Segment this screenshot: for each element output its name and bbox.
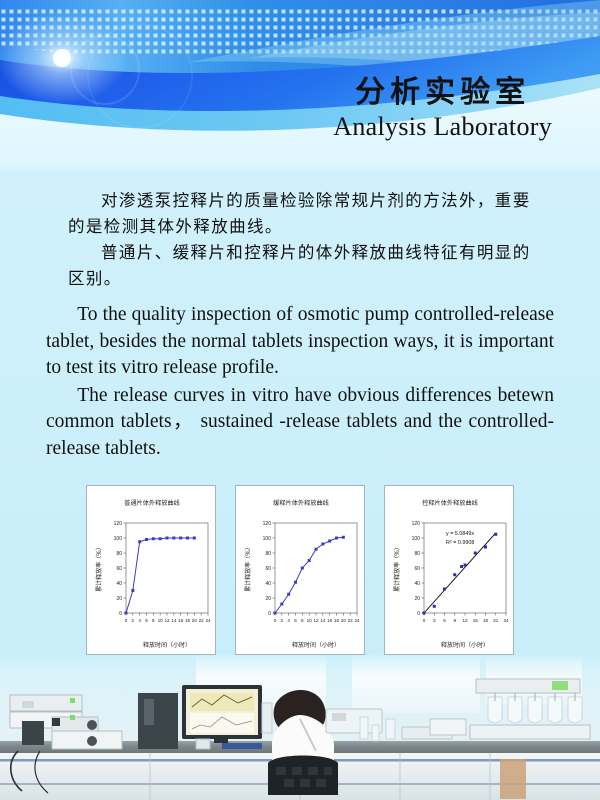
english-body-text: To the quality inspection of osmotic pum… xyxy=(46,302,554,462)
y-tick-label: 40 xyxy=(265,581,271,587)
data-point xyxy=(125,612,128,615)
x-tick-label: 6 xyxy=(145,618,148,623)
x-tick-label: 10 xyxy=(158,618,164,623)
page-title-english: Analysis Laboratory xyxy=(333,114,552,140)
data-point xyxy=(166,537,169,540)
y-tick-label: 0 xyxy=(119,611,122,617)
data-point xyxy=(186,537,189,540)
data-point xyxy=(159,537,162,540)
y-tick-label: 40 xyxy=(116,581,122,587)
x-axis-label: 释放时间（小时） xyxy=(292,641,340,649)
x-tick-label: 18 xyxy=(185,618,191,623)
data-point xyxy=(474,552,477,555)
data-point xyxy=(315,548,318,551)
data-point xyxy=(301,567,304,570)
data-point xyxy=(274,612,277,615)
chart-card-common-tablet: 普通片体外释放曲线0204060801001200246810121416182… xyxy=(86,485,216,655)
y-tick-label: 60 xyxy=(414,566,420,572)
x-tick-label: 20 xyxy=(192,618,198,623)
x-axis-label: 释放时间（小时） xyxy=(143,641,191,649)
y-tick-label: 0 xyxy=(417,611,420,617)
laboratory-photograph xyxy=(0,655,600,800)
chart-card-controlled-release: 控释片体外释放曲线02040608010012003691215182124释放… xyxy=(384,485,514,655)
y-tick-label: 100 xyxy=(263,536,272,542)
x-tick-label: 8 xyxy=(152,618,155,623)
data-point xyxy=(335,537,338,540)
data-point xyxy=(145,538,148,541)
data-point xyxy=(138,540,141,543)
x-tick-label: 8 xyxy=(301,618,304,623)
x-tick-label: 0 xyxy=(274,618,277,623)
x-tick-label: 6 xyxy=(294,618,297,623)
equation-annotation: y = 5.0849x xyxy=(446,531,474,537)
x-tick-label: 24 xyxy=(503,618,509,623)
data-point xyxy=(328,540,331,543)
x-tick-label: 24 xyxy=(205,618,211,623)
data-point xyxy=(308,559,311,562)
chart-title: 普通片体外释放曲线 xyxy=(124,499,180,507)
x-tick-label: 12 xyxy=(164,618,170,623)
data-point xyxy=(294,581,297,584)
chart-title: 控释片体外释放曲线 xyxy=(422,499,478,507)
data-point xyxy=(131,589,134,592)
y-axis-label: 累计释放率（%） xyxy=(393,544,401,592)
x-tick-label: 2 xyxy=(132,618,135,623)
x-tick-label: 15 xyxy=(473,618,479,623)
x-tick-label: 21 xyxy=(493,618,499,623)
data-point xyxy=(152,537,155,540)
x-axis-label: 释放时间（小时） xyxy=(441,641,489,649)
x-tick-label: 18 xyxy=(483,618,489,623)
y-tick-label: 120 xyxy=(114,521,123,527)
data-point xyxy=(172,537,175,540)
data-point xyxy=(460,565,463,568)
x-tick-label: 4 xyxy=(287,618,290,623)
charts-row: 普通片体外释放曲线0204060801001200246810121416182… xyxy=(0,485,600,657)
y-tick-label: 40 xyxy=(414,581,420,587)
data-point xyxy=(433,605,436,608)
data-point xyxy=(193,537,196,540)
chinese-body-text: 对渗透泵控释片的质量检验除常规片剂的方法外，重要的是检测其体外释放曲线。 普通片… xyxy=(68,188,534,292)
slide-root: 分析实验室 Analysis Laboratory 对渗透泵控释片的质量检验除常… xyxy=(0,0,600,800)
y-tick-label: 20 xyxy=(265,596,271,602)
x-tick-label: 3 xyxy=(433,618,436,623)
y-tick-label: 0 xyxy=(268,611,271,617)
x-tick-label: 12 xyxy=(462,618,468,623)
x-tick-label: 0 xyxy=(125,618,128,623)
x-tick-label: 2 xyxy=(281,618,284,623)
x-tick-label: 16 xyxy=(178,618,184,623)
x-tick-label: 14 xyxy=(171,618,177,623)
chart-svg: 缓释片体外释放曲线0204060801001200246810121416182… xyxy=(239,489,363,653)
chinese-paragraph-2: 普通片、缓释片和控释片的体外释放曲线特征有明显的区别。 xyxy=(68,240,534,292)
y-tick-label: 80 xyxy=(265,551,271,557)
title-block: 分析实验室 Analysis Laboratory xyxy=(333,78,552,140)
data-point xyxy=(443,588,446,591)
x-tick-label: 18 xyxy=(334,618,340,623)
y-tick-label: 60 xyxy=(116,566,122,572)
x-tick-label: 20 xyxy=(341,618,347,623)
x-tick-label: 16 xyxy=(327,618,333,623)
data-point xyxy=(287,593,290,596)
chinese-paragraph-1: 对渗透泵控释片的质量检验除常规片剂的方法外，重要的是检测其体外释放曲线。 xyxy=(68,188,534,240)
x-tick-label: 24 xyxy=(354,618,360,623)
x-tick-label: 14 xyxy=(320,618,326,623)
r-squared-annotation: R² = 0.9908 xyxy=(446,540,474,546)
y-tick-label: 60 xyxy=(265,566,271,572)
y-axis-label: 累计释放率（%） xyxy=(95,544,103,592)
data-point xyxy=(321,543,324,546)
x-tick-label: 6 xyxy=(443,618,446,623)
chart-card-sustained-release: 缓释片体外释放曲线0204060801001200246810121416182… xyxy=(235,485,365,655)
chart-svg: 控释片体外释放曲线02040608010012003691215182124释放… xyxy=(388,489,512,653)
y-tick-label: 120 xyxy=(412,521,421,527)
y-axis-label: 累计释放率（%） xyxy=(244,544,252,592)
x-tick-label: 0 xyxy=(423,618,426,623)
x-tick-label: 9 xyxy=(453,618,456,623)
page-title-chinese: 分析实验室 xyxy=(333,78,552,108)
data-point xyxy=(453,573,456,576)
y-tick-label: 120 xyxy=(263,521,272,527)
data-point xyxy=(494,533,497,536)
x-tick-label: 22 xyxy=(348,618,354,623)
data-point xyxy=(342,536,345,539)
y-tick-label: 100 xyxy=(412,536,421,542)
y-tick-label: 100 xyxy=(114,536,123,542)
chart-title: 缓释片体外释放曲线 xyxy=(273,499,329,507)
x-tick-label: 22 xyxy=(199,618,205,623)
y-tick-label: 80 xyxy=(414,551,420,557)
data-point xyxy=(484,546,487,549)
data-point xyxy=(280,603,283,606)
english-paragraph-2: The release curves in vitro have obvious… xyxy=(46,383,554,463)
data-point xyxy=(464,564,467,567)
y-tick-label: 80 xyxy=(116,551,122,557)
y-tick-label: 20 xyxy=(414,596,420,602)
data-point xyxy=(423,612,426,615)
english-paragraph-1: To the quality inspection of osmotic pum… xyxy=(46,302,554,382)
x-tick-label: 10 xyxy=(307,618,313,623)
x-tick-label: 12 xyxy=(313,618,319,623)
x-tick-label: 4 xyxy=(138,618,141,623)
data-point xyxy=(179,537,182,540)
chart-svg: 普通片体外释放曲线0204060801001200246810121416182… xyxy=(90,489,214,653)
y-tick-label: 20 xyxy=(116,596,122,602)
